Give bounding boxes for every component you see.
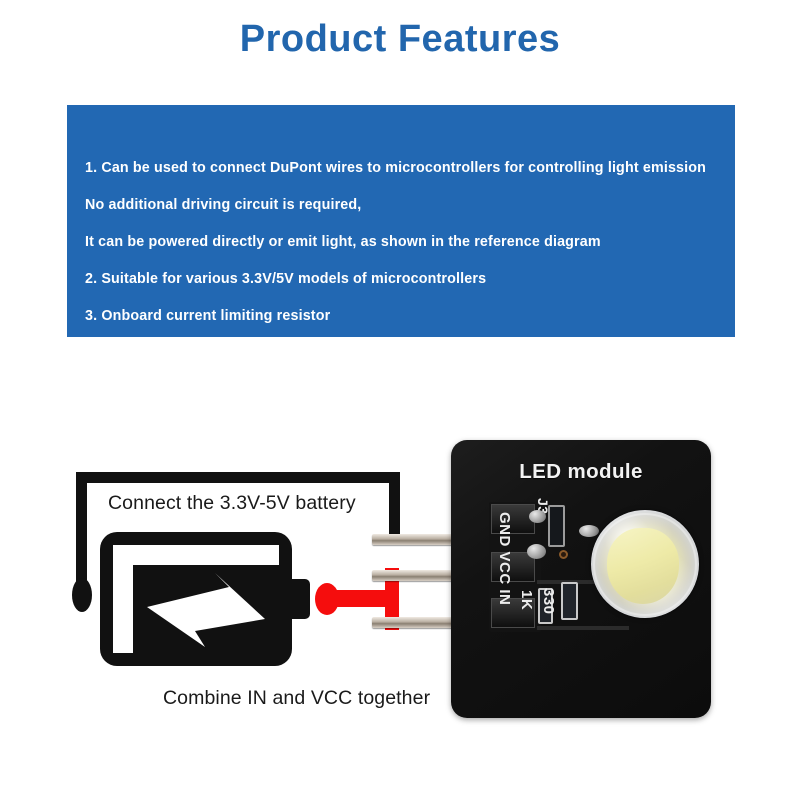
negative-wire-right-segment bbox=[389, 472, 400, 540]
page-title: Product Features bbox=[0, 14, 800, 64]
battery-positive-terminal-icon bbox=[290, 579, 310, 619]
battery-inner-border bbox=[113, 545, 279, 653]
combine-caption: Combine IN and VCC together bbox=[163, 687, 430, 710]
pcb-silkscreen-resistor-330: 330 bbox=[540, 588, 557, 615]
led-dome bbox=[591, 510, 699, 618]
solder-pad bbox=[529, 510, 546, 523]
pcb-silkscreen-pin-labels: GND VCC IN bbox=[496, 512, 513, 605]
negative-wire-top-segment bbox=[76, 472, 400, 483]
feature-line-4: 2. Suitable for various 3.3V/5V models o… bbox=[85, 261, 735, 298]
feature-line-2: No additional driving circuit is require… bbox=[85, 187, 735, 224]
feature-line-1: 1. Can be used to connect DuPont wires t… bbox=[85, 150, 735, 187]
pcb-silkscreen-resistor-1k: 1K bbox=[518, 590, 535, 610]
led-module-board: LED module GND VCC IN J3 1K 330 bbox=[451, 440, 711, 718]
pcb-trace bbox=[537, 626, 629, 630]
smd-resistor-330 bbox=[561, 582, 578, 620]
feature-line-3: It can be powered directly or emit light… bbox=[85, 224, 735, 261]
pcb-via bbox=[559, 550, 568, 559]
solder-pad bbox=[527, 544, 546, 559]
pcb-silkscreen-title: LED module bbox=[451, 460, 711, 484]
battery-caption: Connect the 3.3V-5V battery bbox=[108, 492, 356, 515]
battery-icon bbox=[100, 532, 292, 666]
led-rim bbox=[593, 513, 697, 616]
negative-wire-terminal bbox=[72, 578, 92, 612]
battery-body bbox=[100, 532, 292, 666]
feature-line-5: 3. Onboard current limiting resistor bbox=[85, 298, 735, 335]
features-panel: 1. Can be used to connect DuPont wires t… bbox=[67, 105, 735, 337]
solder-pad bbox=[579, 525, 599, 537]
battery-window bbox=[133, 565, 285, 659]
smd-transistor bbox=[548, 505, 565, 547]
lightning-bolt-icon bbox=[141, 571, 277, 653]
